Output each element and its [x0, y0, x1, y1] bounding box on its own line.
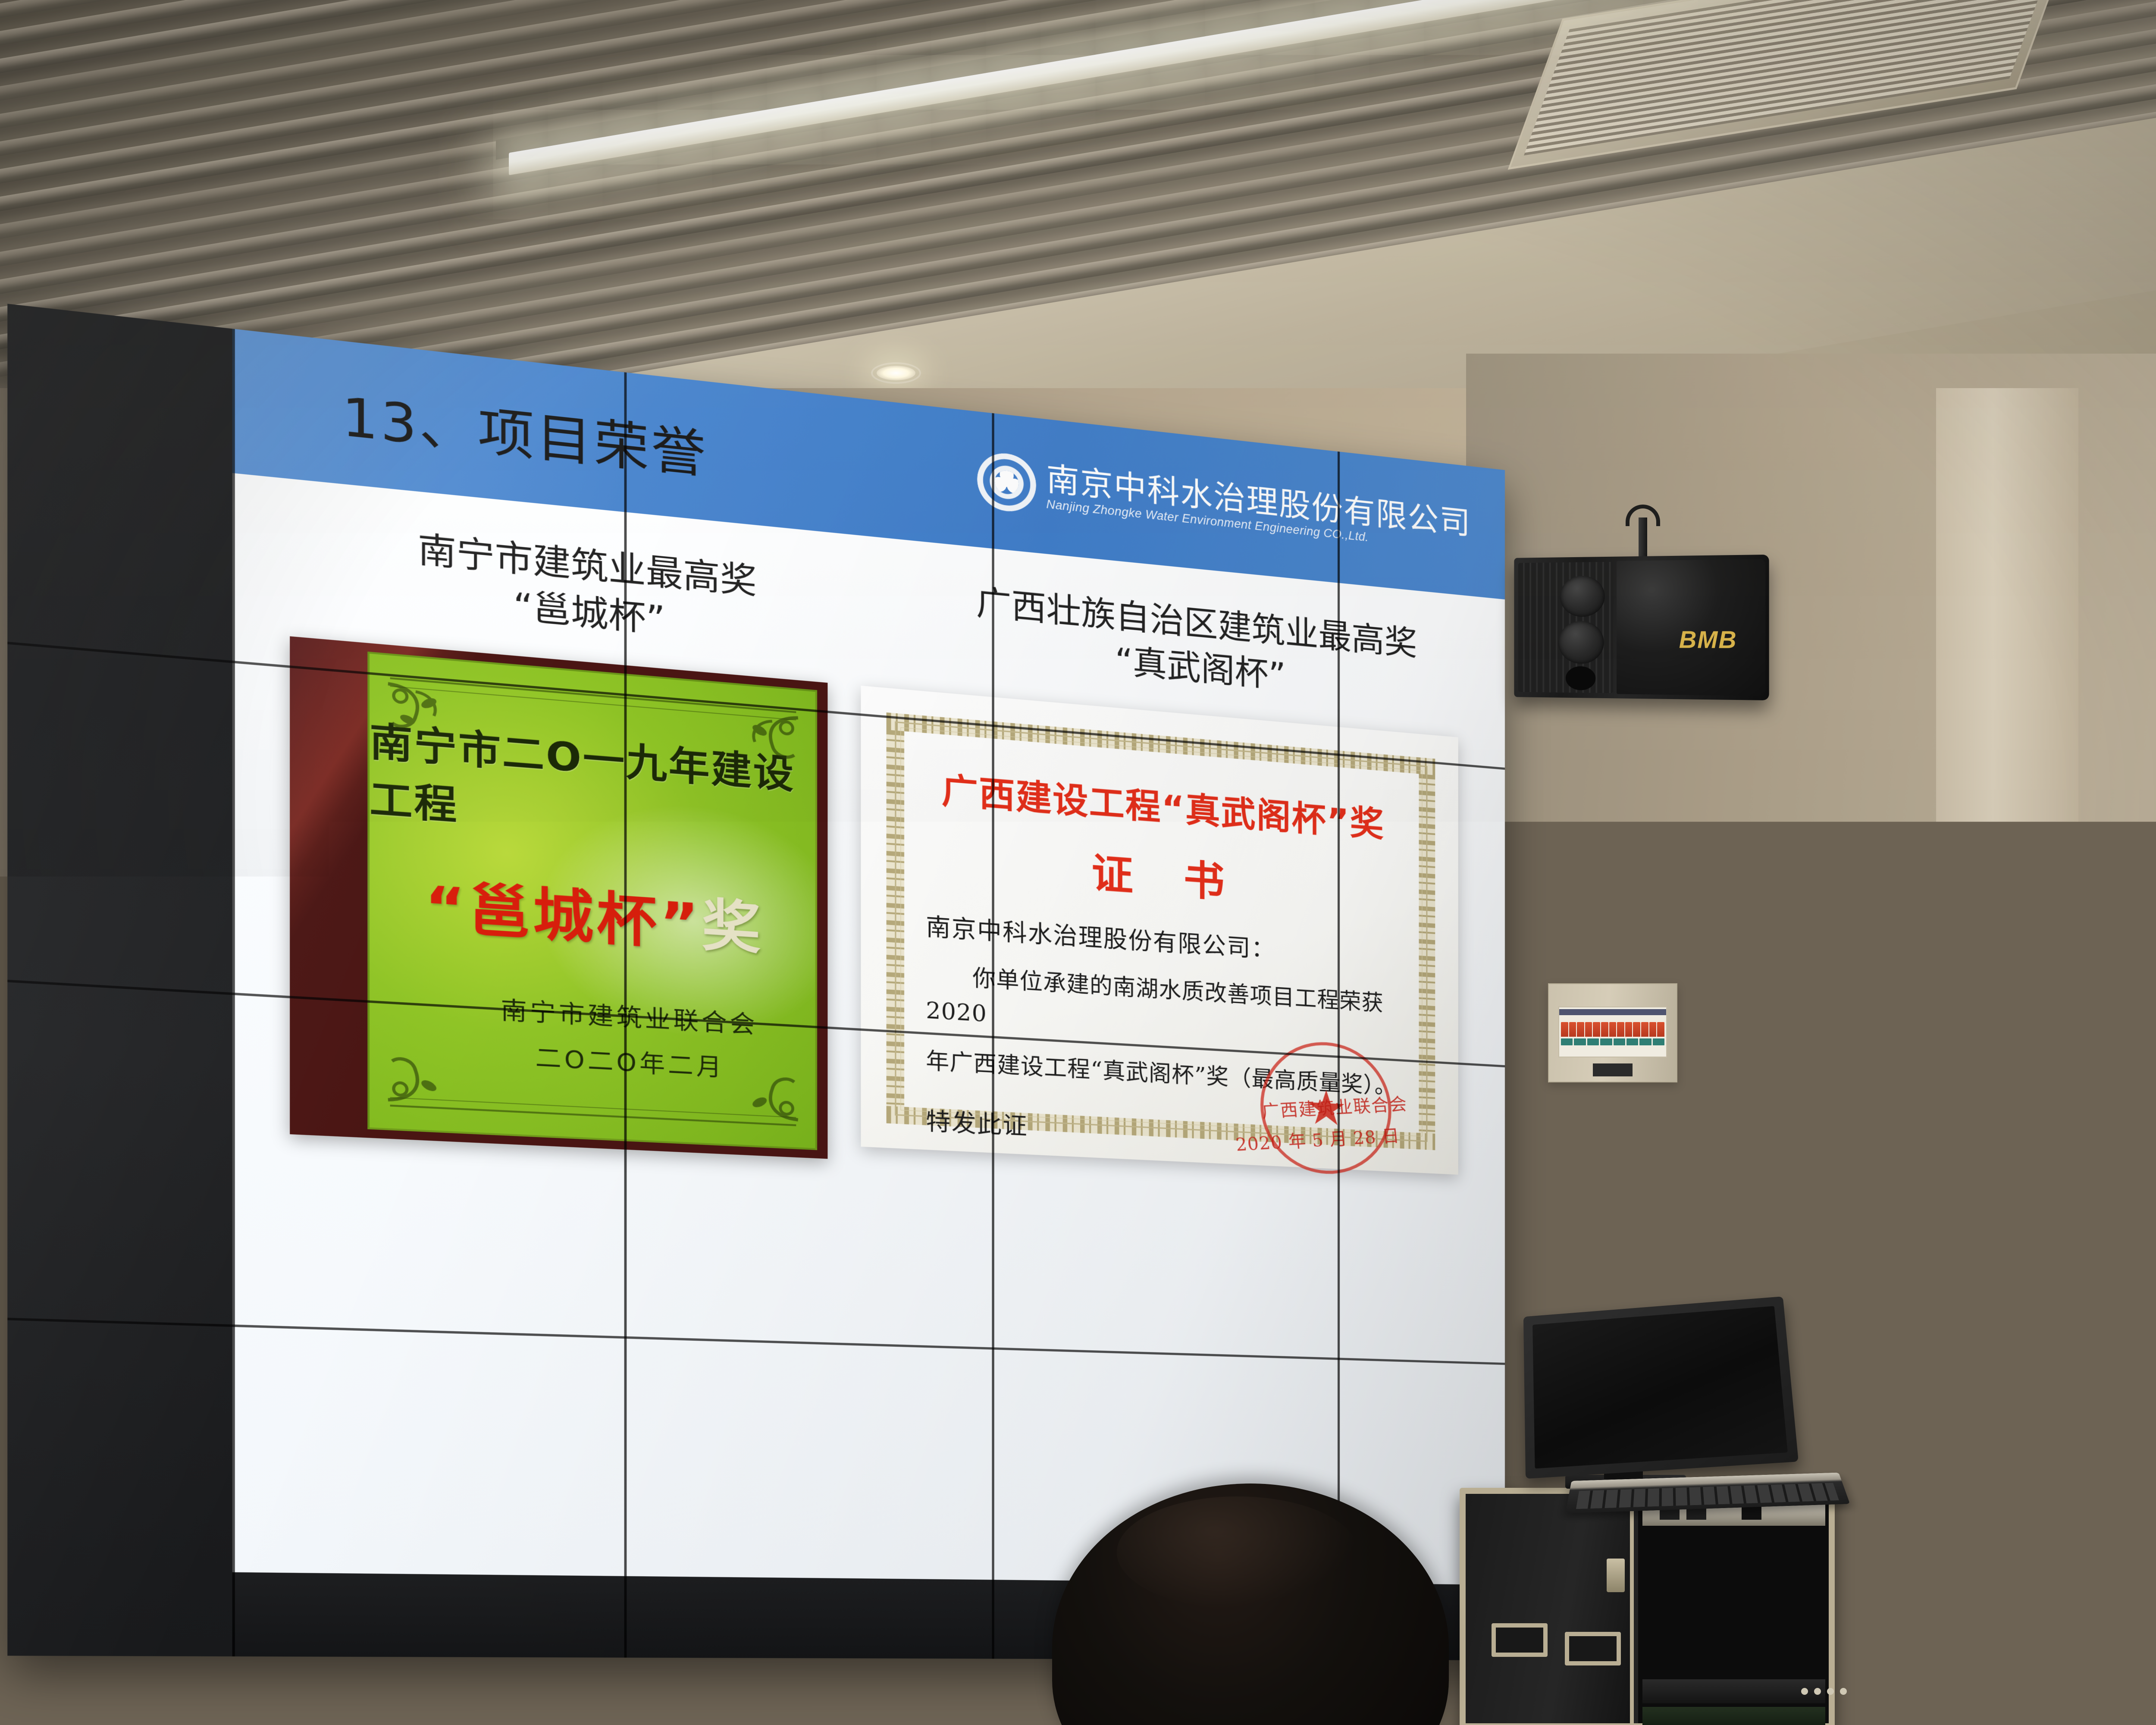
flower-bouquet-icon	[1854, 1138, 2156, 1699]
award-plaque-image: 南宁市二O一九年建设工程 “邕城杯”奖 南宁市建筑业联合会 二O二O年二月	[290, 637, 827, 1159]
plaque-date: 二O二O年二月	[501, 1036, 758, 1085]
plaque-award-quote-close: ”	[660, 889, 702, 958]
slide-body: 南宁市建筑业最高奖 “邕城杯” 广西壮族自治区建筑业最高奖 “真武阁杯”	[232, 473, 1505, 1585]
bouquet-blossom	[2070, 1241, 2103, 1269]
speaker-driver-tweeter	[1560, 576, 1605, 617]
video-wall-display[interactable]: 13、项目荣誉 南京中科水治理股份有限公司 Nanjing Zhongke Wa…	[7, 304, 1505, 1660]
award-images-row: 南宁市二O一九年建设工程 “邕城杯”奖 南宁市建筑业联合会 二O二O年二月	[290, 637, 1458, 1188]
plaque-award-suffix: 奖	[702, 892, 764, 962]
equipment-rack-icon[interactable]	[1460, 1488, 1835, 1725]
breaker-switch[interactable]	[1617, 1022, 1624, 1037]
breaker-switch[interactable]	[1587, 1038, 1599, 1045]
page-title: 13、项目荣誉	[342, 374, 708, 489]
plaque-corner-ornament-icon	[729, 709, 801, 775]
certificate-body-line1: 你单位承建的南湖水质改善项目工程荣获 2020	[926, 958, 1399, 1055]
breaker-panel-window	[1558, 1007, 1667, 1057]
speaker-bass-port	[1566, 666, 1595, 690]
room-scene: 13、项目荣誉 南京中科水治理股份有限公司 Nanjing Zhongke Wa…	[0, 0, 2156, 1725]
award-certificate-image: 广西建设工程“真武阁杯”奖 证 书 南京中科水治理股份有限公司： 你单位承建的南…	[861, 686, 1458, 1175]
certificate-content: 广西建设工程“真武阁杯”奖 证 书 南京中科水治理股份有限公司： 你单位承建的南…	[873, 699, 1447, 1162]
speaker-brand-label: BMB	[1679, 625, 1737, 654]
rack-open-bay	[1638, 1494, 1829, 1723]
breaker-switch[interactable]	[1641, 1022, 1648, 1037]
rack-handle-icon[interactable]	[1492, 1623, 1548, 1657]
speaker-driver-woofer	[1558, 621, 1604, 664]
bouquet-blossom	[2080, 1430, 2109, 1454]
lcd-monitor-icon[interactable]	[1523, 1296, 1799, 1479]
video-wall-inactive-left	[7, 304, 235, 1656]
bouquet-blossom	[2066, 1327, 2081, 1341]
bouquet-blossom	[2129, 1371, 2156, 1394]
caption-right: 广西壮族自治区建筑业最高奖 “真武阁杯”	[931, 576, 1458, 714]
breaker-switch[interactable]	[1593, 1022, 1600, 1037]
rack-handle-icon[interactable]	[1565, 1632, 1621, 1665]
breaker-switch[interactable]	[1574, 1038, 1586, 1045]
rack-unit-processor[interactable]	[1642, 1707, 1825, 1725]
breaker-switch[interactable]	[1639, 1038, 1651, 1045]
breaker-switch-row-secondary[interactable]	[1561, 1038, 1664, 1045]
breaker-switch[interactable]	[1561, 1022, 1568, 1037]
bouquet-blossom	[2003, 1248, 2035, 1276]
monitor-screen[interactable]	[1532, 1306, 1788, 1468]
plaque-award-quote-open: “	[425, 874, 468, 944]
breaker-switch[interactable]	[1653, 1038, 1664, 1045]
bouquet-blossom	[2033, 1256, 2053, 1272]
breaker-switch[interactable]	[1600, 1038, 1612, 1045]
breaker-switch[interactable]	[1626, 1038, 1638, 1045]
bouquet-blossom	[2018, 1430, 2038, 1446]
breaker-switch[interactable]	[1657, 1022, 1664, 1037]
breaker-panel-nameplate	[1593, 1063, 1633, 1076]
plaque-face: 南宁市二O一九年建设工程 “邕城杯”奖 南宁市建筑业联合会 二O二O年二月	[367, 652, 817, 1150]
electrical-breaker-panel-icon[interactable]	[1548, 983, 1677, 1082]
breaker-panel-busbar	[1559, 1009, 1666, 1015]
breaker-switch[interactable]	[1625, 1022, 1633, 1037]
company-circular-water-logo-icon	[977, 450, 1036, 514]
plaque-issuer: 南宁市建筑业联合会	[501, 991, 758, 1040]
bouquet-blossom	[2103, 1320, 2133, 1345]
bouquet-blossom	[2049, 1343, 2075, 1366]
bouquet-blossom	[2133, 1428, 2156, 1448]
bouquet-blossom	[2000, 1339, 2024, 1360]
loudspeaker-icon: BMB	[1514, 555, 1769, 700]
rack-unit-amplifier[interactable]	[1642, 1679, 1825, 1703]
recessed-downlight-icon	[877, 366, 915, 380]
company-logo: 南京中科水治理股份有限公司 Nanjing Zhongke Water Envi…	[977, 450, 1471, 559]
plaque-footer: 南宁市建筑业联合会 二O二O年二月	[501, 991, 758, 1085]
breaker-switch[interactable]	[1609, 1022, 1617, 1037]
breaker-switch[interactable]	[1577, 1022, 1584, 1037]
plaque-award-text: “邕城杯”奖	[425, 860, 764, 965]
plaque-corner-ornament-icon	[385, 681, 461, 749]
bouquet-blossom	[2100, 1391, 2131, 1418]
breaker-switch[interactable]	[1561, 1038, 1573, 1045]
bouquet-blossom	[2009, 1404, 2029, 1422]
breaker-switch[interactable]	[1585, 1022, 1592, 1037]
rack-latch-icon[interactable]	[1607, 1559, 1625, 1592]
bouquet-blossom	[1997, 1318, 2016, 1335]
breaker-switch[interactable]	[1649, 1022, 1657, 1037]
plaque-award-name: 邕城杯	[468, 876, 659, 955]
breaker-switch[interactable]	[1569, 1022, 1576, 1037]
breaker-switch[interactable]	[1633, 1022, 1640, 1037]
breaker-switch-row-primary[interactable]	[1561, 1022, 1664, 1037]
breaker-switch[interactable]	[1601, 1022, 1608, 1037]
presentation-slide: 13、项目荣誉 南京中科水治理股份有限公司 Nanjing Zhongke Wa…	[232, 329, 1505, 1585]
plaque-corner-ornament-icon	[385, 1041, 461, 1107]
speaker-mount-bracket	[1639, 517, 1647, 559]
rack-door[interactable]	[1466, 1494, 1634, 1723]
breaker-switch[interactable]	[1614, 1038, 1625, 1045]
